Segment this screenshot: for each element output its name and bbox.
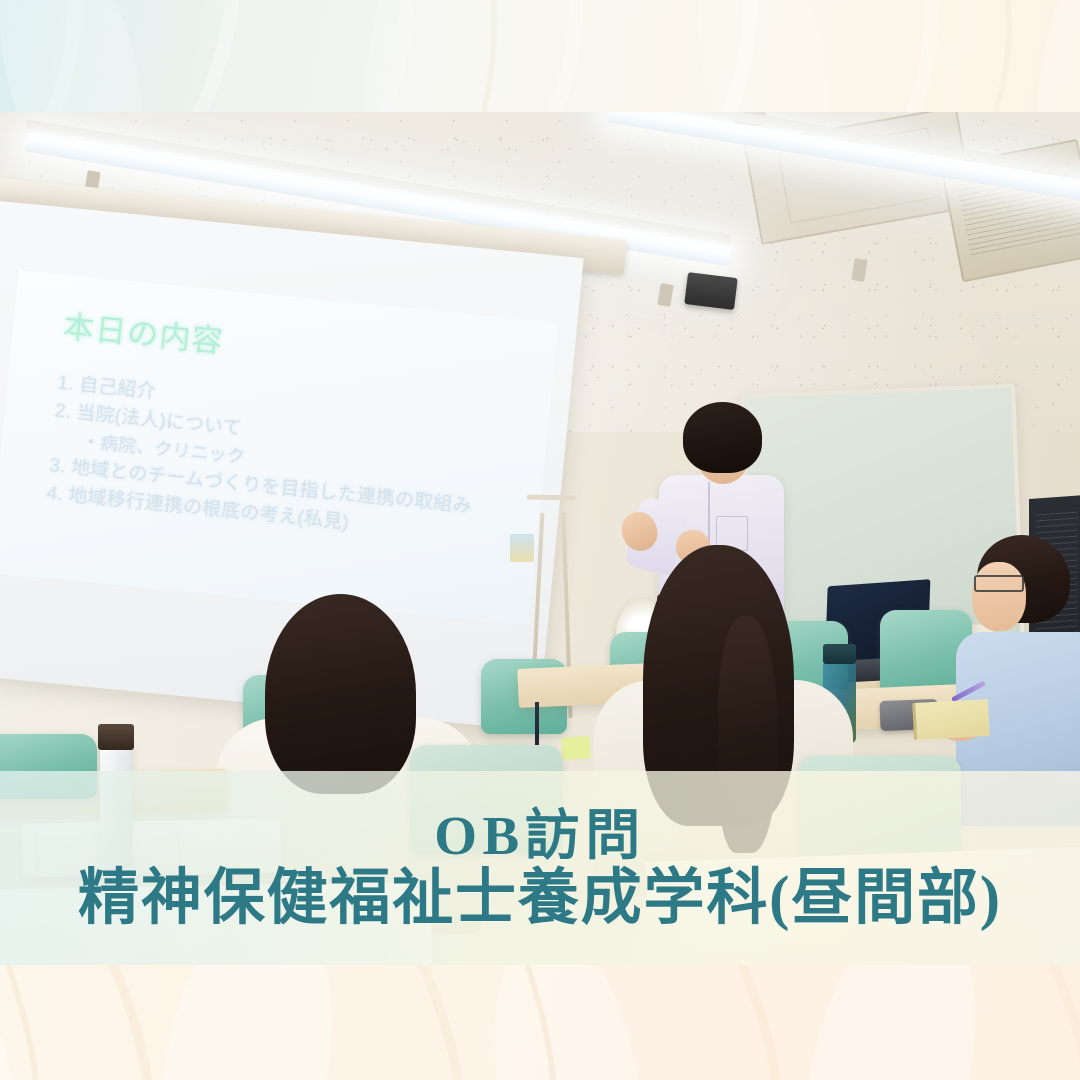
page-title-primary: OB訪問 [434, 808, 645, 863]
student-right-face [972, 562, 1026, 631]
presenter-hair [683, 402, 763, 473]
leaf-pattern-icon [0, 0, 1080, 112]
notebook [912, 699, 989, 740]
leaf-pattern-icon [0, 965, 1080, 1080]
student-left-hair [265, 594, 416, 794]
slide-agenda-list: 1. 自己紹介 2. 当院(法人)について ・病院、クリニック 3. 地域とのチ… [45, 369, 512, 552]
bottle-cap [98, 724, 134, 750]
presentation-slide: 本日の内容 1. 自己紹介 2. 当院(法人)について ・病院、クリニック 3.… [0, 269, 558, 625]
glasses-icon [974, 575, 1024, 592]
top-decorative-band [0, 0, 1080, 112]
bottle-cap [823, 644, 856, 665]
flipchart-tray [510, 534, 534, 562]
poster-image: 本日の内容 1. 自己紹介 2. 当院(法人)について ・病院、クリニック 3.… [0, 0, 1080, 1080]
title-overlay-band: OB訪問 精神保健福祉士養成学科(昼間部) [0, 771, 1080, 968]
flipchart-stand-bar [527, 494, 575, 500]
page-title-secondary: 精神保健福祉士養成学科(昼間部) [78, 867, 1002, 931]
bottom-decorative-band [0, 965, 1080, 1080]
sticky-note [561, 736, 591, 759]
